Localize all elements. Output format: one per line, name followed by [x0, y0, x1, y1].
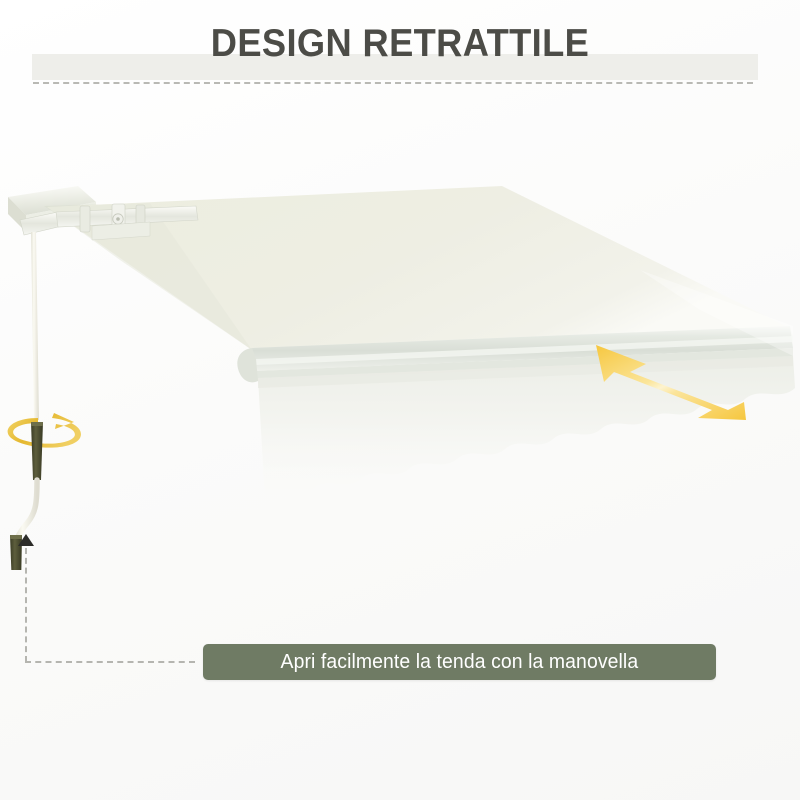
- valance: [258, 356, 795, 499]
- infographic-page: DESIGN RETRATTILE: [0, 0, 800, 800]
- crank-handle: [8, 232, 81, 570]
- callout-arrowhead: [18, 534, 34, 546]
- caption-text: Apri facilmente la tenda con la manovell…: [281, 651, 639, 674]
- callout-line-horizontal: [25, 661, 195, 663]
- awning-illustration: [0, 150, 800, 570]
- page-title: DESIGN RETRATTILE: [28, 22, 772, 66]
- header-divider: [33, 82, 753, 84]
- caption-banner: Apri facilmente la tenda con la manovell…: [203, 644, 716, 680]
- crank-rotation-arrow: [8, 413, 81, 448]
- callout-line-vertical: [25, 548, 27, 662]
